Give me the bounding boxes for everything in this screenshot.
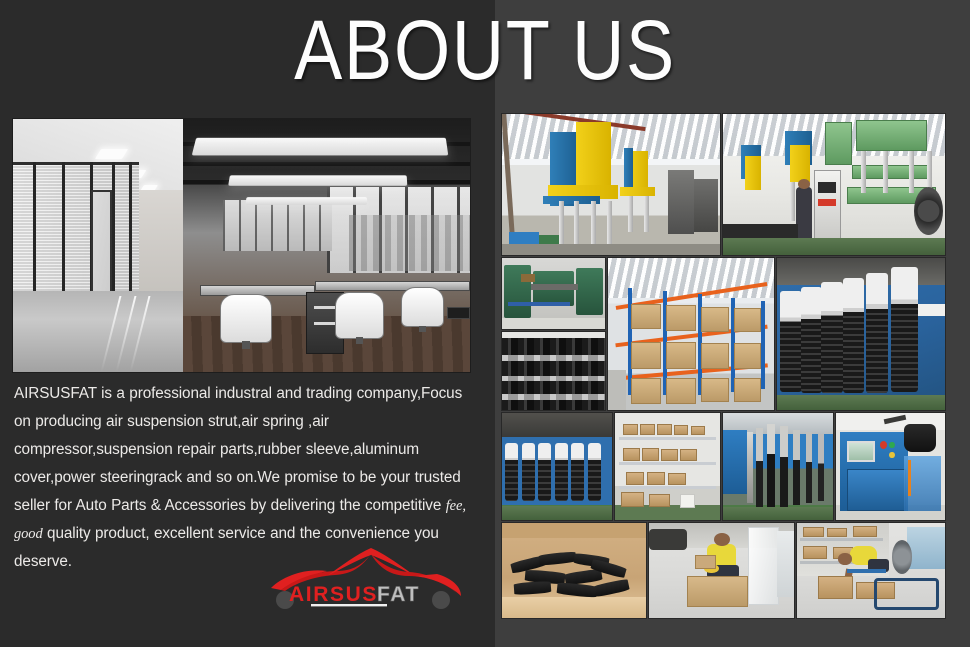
warehouse-pallet-racking	[608, 258, 774, 410]
hydraulic-press-yellow-blue	[502, 114, 720, 255]
strut-assembly-blue-rack	[502, 413, 612, 520]
page-title: ABOUT US	[68, 6, 902, 94]
blue-testing-machine	[836, 413, 945, 520]
about-us-page: ABOUT US	[0, 0, 970, 647]
rubber-sleeves-in-carton	[502, 523, 646, 618]
hydraulic-press-green	[723, 114, 945, 255]
open-plan-office-photo	[183, 119, 470, 372]
worker-packing-parts	[649, 523, 794, 618]
logo-text-airsus: AIRSUS	[289, 583, 378, 606]
about-paragraph-part1: AIRSUSFAT is a professional industral an…	[14, 385, 462, 514]
rubber-bellows-stack	[502, 332, 605, 410]
worker-loading-trolley	[797, 523, 945, 618]
parts-storage-shelving	[615, 413, 720, 520]
air-suspension-struts-row	[777, 258, 945, 410]
office-corridor-photo	[13, 119, 183, 372]
logo-text-fat: FAT	[377, 583, 420, 606]
factory-photo-grid	[502, 114, 945, 631]
left-photo-pair	[13, 119, 470, 372]
airsusfat-logo: AIRSUS FAT	[265, 538, 475, 616]
shock-absorber-batch	[723, 413, 833, 520]
green-rubber-mixing-machine	[502, 258, 605, 329]
